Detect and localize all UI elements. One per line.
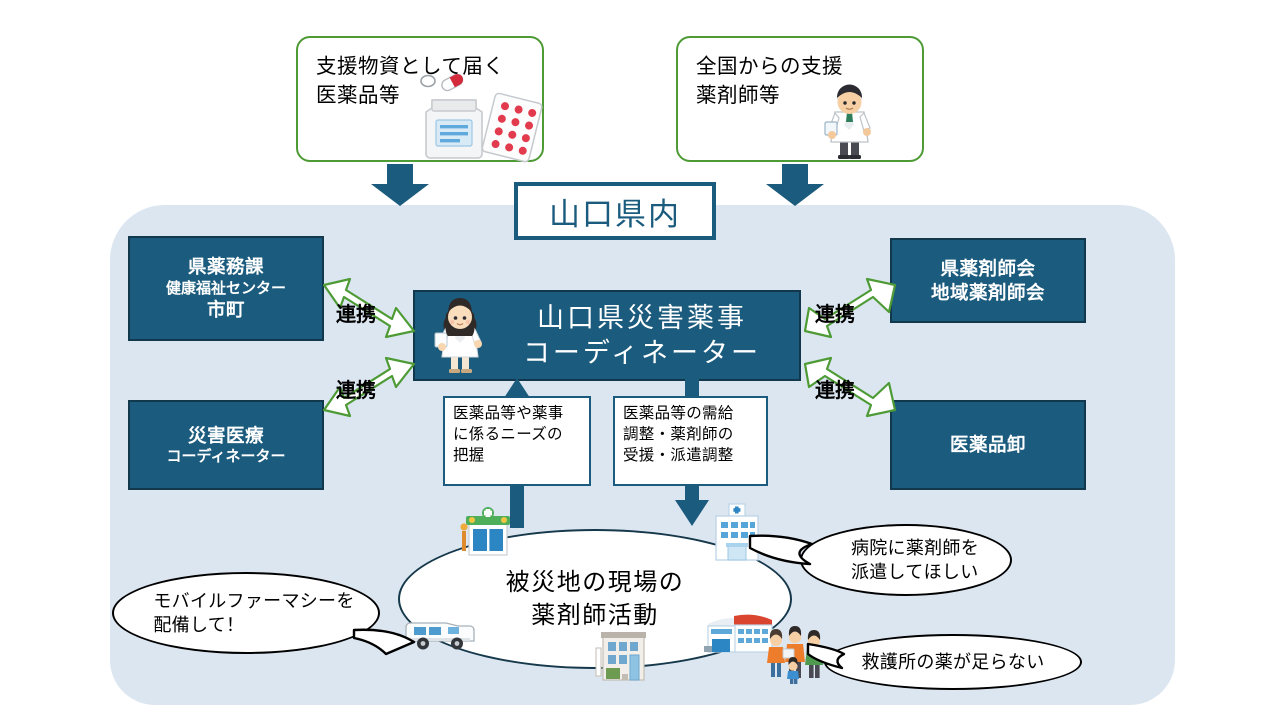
speech-bubble-medicine-shortage: 救護所の薬が足らない (824, 634, 1082, 690)
supply-drugs-box: 支援物資として届く 医薬品等 (296, 36, 544, 162)
org-line-1: 県薬剤師会 (940, 257, 1035, 281)
org-line-2: コーディネーター (167, 447, 286, 466)
supply-pharmacists-label: 全国からの支援 薬剤師等 (696, 52, 906, 110)
renkei-label: 連携 (336, 374, 376, 403)
speech-bubble-mobile-text: モバイルファーマシーを 配備して！ (137, 589, 354, 638)
renkei-arrow-top-left: 連携 (322, 277, 416, 343)
coordinator-label: 山口県災害薬事コーディネーター (493, 301, 799, 370)
org-line-2: 地域薬剤師会 (931, 281, 1045, 305)
flow-needs-text: 医薬品等や薬事 に係るニーズの 把握 (453, 404, 582, 466)
renkei-label: 連携 (815, 298, 855, 327)
flow-supply-text: 医薬品等の需給 調整・薬剤師の 受援・派遣調整 (623, 404, 759, 466)
speech-bubble-mobile-tail (352, 626, 432, 660)
org-line-1: 県薬務課 (188, 255, 264, 279)
speech-bubble-shortage-tail (806, 640, 850, 672)
speech-bubble-hospital: 病院に薬剤師を 派遣してほしい (800, 524, 1012, 596)
apartment-building-icon (592, 630, 652, 686)
flow-label-needs: 医薬品等や薬事 に係るニーズの 把握 (443, 396, 591, 486)
pharmacists-inflow-arrow (764, 164, 826, 206)
renkei-arrow-top-right: 連携 (803, 277, 897, 343)
diagram-canvas: 支援物資として届く 医薬品等 (0, 0, 1280, 720)
org-box-pharmaceutical-association: 県薬剤師会 地域薬剤師会 (890, 238, 1086, 323)
renkei-arrow-bottom-left: 連携 (322, 352, 416, 418)
speech-bubble-mobile-pharmacy: モバイルファーマシーを 配備して！ (112, 572, 380, 654)
flow-label-supply: 医薬品等の需給 調整・薬剤師の 受援・派遣調整 (613, 396, 768, 486)
supply-pharmacists-box: 全国からの支援 薬剤師等 (676, 36, 924, 162)
supply-drugs-label: 支援物資として届く 医薬品等 (316, 52, 526, 110)
field-activity-label: 被災地の現場の 薬剤師活動 (506, 566, 685, 632)
speech-bubble-shortage-text: 救護所の薬が足らない (862, 650, 1045, 674)
org-box-disaster-medical-coordinator: 災害医療 コーディネーター (128, 400, 324, 490)
org-box-drug-wholesaler: 医薬品卸 (890, 400, 1086, 490)
renkei-label: 連携 (336, 298, 376, 327)
org-box-prefectural-pharmaceutical-affairs: 県薬務課 健康福祉センター 市町 (128, 236, 324, 341)
disaster-pharmaceutical-coordinator-box: 山口県災害薬事コーディネーター (413, 290, 801, 381)
org-line-1: 医薬品卸 (950, 433, 1026, 457)
coordinator-line-1: 山口県災害薬事 (537, 303, 747, 333)
org-line-1: 災害医療 (188, 424, 264, 448)
region-title-banner: 山口県内 (514, 182, 716, 240)
org-line-3: 市町 (207, 298, 245, 322)
female-pharmacist-icon (427, 296, 493, 376)
speech-bubble-hospital-tail (748, 530, 820, 572)
org-line-2: 健康福祉センター (166, 279, 286, 298)
pharmacy-shop-icon (455, 505, 517, 561)
coordinator-line-2: コーディネーター (523, 338, 761, 368)
renkei-arrow-bottom-right: 連携 (803, 352, 897, 418)
region-title-label: 山口県内 (549, 189, 681, 234)
renkei-label: 連携 (815, 374, 855, 403)
speech-bubble-hospital-text: 病院に薬剤師を 派遣してほしい (833, 536, 979, 585)
drugs-inflow-arrow (369, 164, 431, 206)
